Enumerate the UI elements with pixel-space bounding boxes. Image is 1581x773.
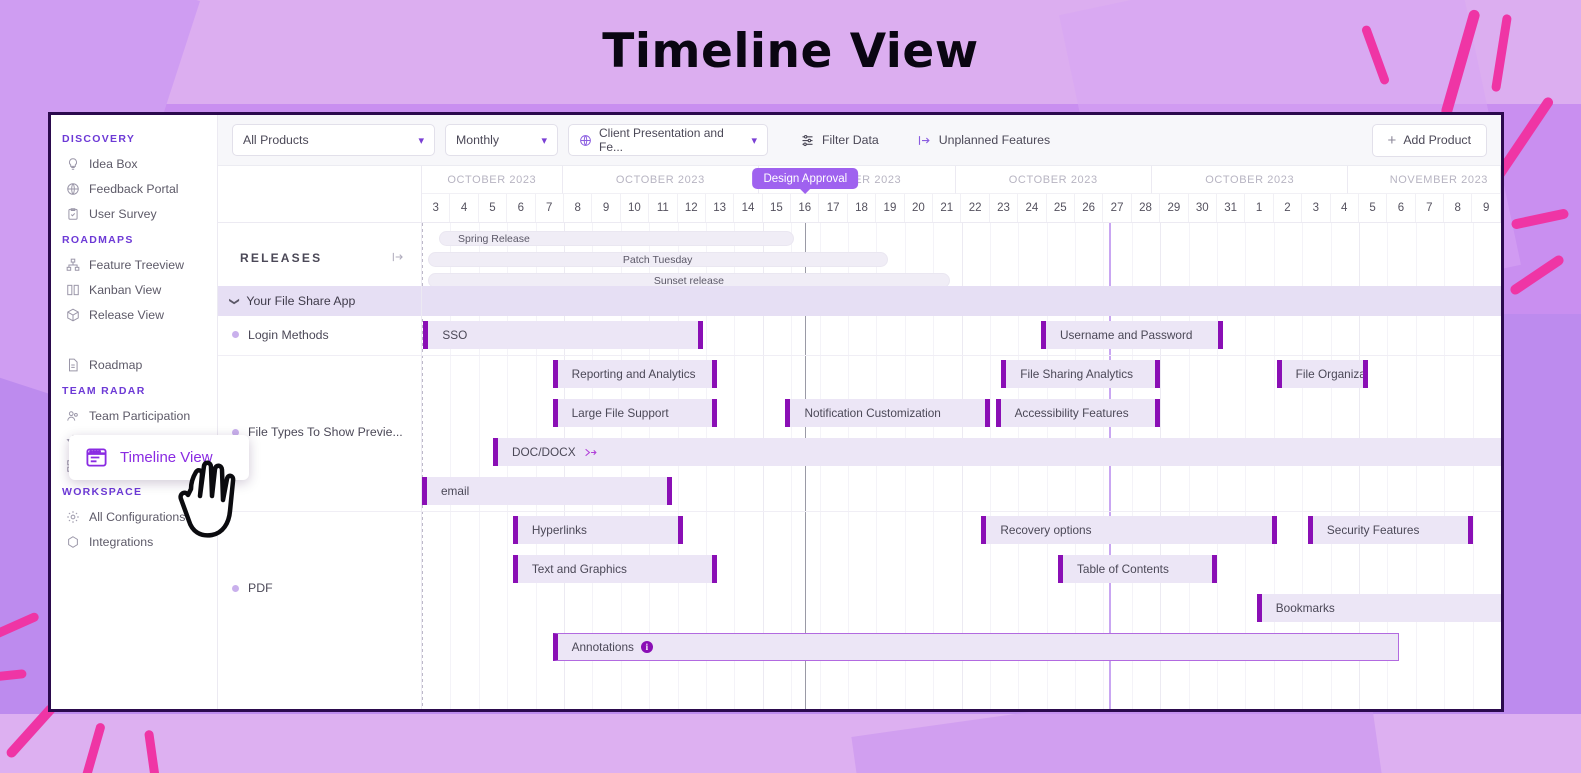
feature-bar[interactable]: email bbox=[422, 477, 672, 505]
sidebar-item-team-participation[interactable]: Team Participation bbox=[51, 403, 217, 428]
timeline-icon bbox=[85, 446, 108, 469]
feature-bar-label: Notification Customization bbox=[804, 406, 940, 420]
hand-cursor-icon bbox=[169, 455, 255, 552]
row-divider bbox=[422, 511, 1501, 512]
timeline-header: OCTOBER 2023OCTOBER 2023OCTOBER 2023OCTO… bbox=[218, 166, 1501, 223]
month-label: NOVEMBER 2023 bbox=[1348, 166, 1501, 194]
day-cell[interactable]: 16 bbox=[791, 194, 819, 222]
chevron-down-icon[interactable]: ❯ bbox=[229, 297, 240, 305]
sidebar-section-discovery: DISCOVERY bbox=[51, 125, 217, 151]
timeline-header-scale: OCTOBER 2023OCTOBER 2023OCTOBER 2023OCTO… bbox=[422, 166, 1501, 222]
releases-zone: Spring ReleasePatch TuesdaySunset releas… bbox=[422, 223, 1501, 286]
day-cell[interactable]: 14 bbox=[734, 194, 762, 222]
day-cell[interactable]: 10 bbox=[621, 194, 649, 222]
row-bullet-icon bbox=[232, 331, 239, 338]
row-label-text: File Types To Show Previe... bbox=[248, 425, 403, 439]
row-label[interactable]: File Types To Show Previe... bbox=[232, 425, 403, 439]
row-bullet-icon bbox=[232, 585, 239, 592]
view-preset-value: Client Presentation and Fe... bbox=[599, 126, 736, 154]
day-row: 3456789101112131415161718192021222324252… bbox=[422, 194, 1501, 222]
day-cell[interactable]: 23 bbox=[990, 194, 1018, 222]
feature-bar[interactable]: Recovery options bbox=[981, 516, 1276, 544]
main-content: All Products ▾ Monthly ▾ Client Presenta… bbox=[218, 115, 1501, 709]
month-label: OCTOBER 2023 bbox=[422, 166, 563, 194]
row-label-text: Login Methods bbox=[248, 328, 329, 342]
clipboard-check-icon bbox=[65, 206, 80, 221]
month-label: OCTOBER 2023 bbox=[956, 166, 1152, 194]
plus-icon: + bbox=[1388, 133, 1397, 148]
day-cell[interactable]: 6 bbox=[507, 194, 535, 222]
sidebar-item-label: User Survey bbox=[89, 207, 157, 221]
group-header-label: Your File Share App bbox=[246, 294, 355, 308]
feature-bar-label: Security Features bbox=[1327, 523, 1419, 537]
product-filter-value: All Products bbox=[243, 133, 309, 147]
release-bar-label: Spring Release bbox=[458, 233, 530, 245]
day-cell[interactable]: 13 bbox=[706, 194, 734, 222]
day-cell[interactable]: 4 bbox=[450, 194, 478, 222]
feature-bar[interactable]: Reporting and Analytics bbox=[553, 360, 718, 388]
timeline-header-spacer bbox=[218, 166, 422, 222]
day-cell[interactable]: 7 bbox=[536, 194, 564, 222]
feature-bar-label: Recovery options bbox=[1000, 523, 1091, 537]
feature-bar[interactable]: Bookmarks bbox=[1257, 594, 1501, 622]
unplanned-features-label: Unplanned Features bbox=[939, 133, 1050, 147]
day-cell[interactable]: 7 bbox=[1416, 194, 1444, 222]
row-label-text: PDF bbox=[248, 581, 273, 595]
timeline-grid[interactable]: Spring ReleasePatch TuesdaySunset releas… bbox=[422, 223, 1501, 709]
feature-bar[interactable]: SSO bbox=[423, 321, 703, 349]
frequency-dropdown[interactable]: Monthly ▾ bbox=[445, 124, 558, 156]
row-divider bbox=[422, 355, 1501, 356]
day-cell[interactable]: 1 bbox=[1245, 194, 1273, 222]
release-bar-label: Sunset release bbox=[654, 275, 724, 287]
sidebar-item-idea-box[interactable]: Idea Box bbox=[51, 151, 217, 176]
day-cell[interactable]: 6 bbox=[1387, 194, 1415, 222]
box-icon bbox=[65, 307, 80, 322]
day-cell[interactable]: 29 bbox=[1160, 194, 1188, 222]
day-cell[interactable]: 17 bbox=[819, 194, 847, 222]
feature-bar[interactable]: DOC/DOCX bbox=[493, 438, 1501, 466]
feature-bar[interactable]: Security Features bbox=[1308, 516, 1473, 544]
sidebar-item-label: Kanban View bbox=[89, 283, 161, 297]
globe-icon bbox=[65, 181, 80, 196]
sidebar-item-release-view[interactable]: Release View bbox=[51, 302, 217, 327]
add-product-label: Add Product bbox=[1403, 133, 1471, 147]
feature-bar-label: Text and Graphics bbox=[532, 562, 627, 576]
day-cell[interactable]: 9 bbox=[1472, 194, 1500, 222]
day-cell[interactable]: 25 bbox=[1047, 194, 1075, 222]
feature-bar[interactable]: File Organizatio... bbox=[1277, 360, 1368, 388]
day-cell[interactable]: 31 bbox=[1217, 194, 1245, 222]
releases-section-label: RELEASES bbox=[240, 251, 322, 265]
row-label[interactable]: Login Methods bbox=[232, 328, 329, 342]
day-cell[interactable]: 5 bbox=[1359, 194, 1387, 222]
sidebar-item-kanban-view[interactable]: Kanban View bbox=[51, 277, 217, 302]
day-cell[interactable]: 3 bbox=[1302, 194, 1330, 222]
feature-bar[interactable]: Username and Password bbox=[1041, 321, 1223, 349]
day-cell[interactable]: 21 bbox=[933, 194, 961, 222]
arrow-continue-icon[interactable] bbox=[584, 446, 597, 459]
frequency-value: Monthly bbox=[456, 133, 499, 147]
feature-bar-label: DOC/DOCX bbox=[512, 445, 576, 459]
day-cell[interactable]: 15 bbox=[763, 194, 791, 222]
chevron-down-icon: ▾ bbox=[533, 134, 547, 147]
day-cell[interactable]: 4 bbox=[1331, 194, 1359, 222]
day-cell[interactable]: 2 bbox=[1274, 194, 1302, 222]
feature-bar-label: Hyperlinks bbox=[532, 523, 587, 537]
group-header-row[interactable]: ❯Your File Share App bbox=[218, 286, 421, 316]
page-title: Timeline View bbox=[0, 24, 1581, 79]
feature-bar-label: Annotations bbox=[572, 640, 634, 654]
hexagon-icon bbox=[65, 534, 80, 549]
arrow-to-line-icon[interactable] bbox=[391, 250, 405, 269]
sidebar-item-label: Idea Box bbox=[89, 157, 138, 171]
feature-bar-label: Bookmarks bbox=[1276, 601, 1335, 615]
day-cell[interactable]: 26 bbox=[1075, 194, 1103, 222]
sidebar-section-team-radar: TEAM RADAR bbox=[51, 377, 217, 403]
feature-bar[interactable]: Notification Customization bbox=[785, 399, 989, 427]
users-icon bbox=[65, 408, 80, 423]
sidebar-item-label: Integrations bbox=[89, 535, 153, 549]
lightbulb-icon bbox=[65, 156, 80, 171]
day-cell[interactable]: 28 bbox=[1132, 194, 1160, 222]
day-cell[interactable]: 11 bbox=[649, 194, 677, 222]
sidebar-item-label: Release View bbox=[89, 308, 164, 322]
unplanned-features-button[interactable]: Unplanned Features bbox=[909, 124, 1058, 156]
release-bar-label: Patch Tuesday bbox=[623, 254, 692, 266]
day-cell[interactable]: 9 bbox=[592, 194, 620, 222]
day-cell[interactable]: 24 bbox=[1018, 194, 1046, 222]
sidebar-item-label: Team Participation bbox=[89, 409, 190, 423]
sliders-icon bbox=[800, 133, 815, 148]
day-cell[interactable]: 20 bbox=[905, 194, 933, 222]
sidebar-item-roadmap[interactable]: Roadmap bbox=[51, 352, 217, 377]
day-cell[interactable]: 12 bbox=[678, 194, 706, 222]
feature-bar[interactable]: Annotationsi bbox=[553, 633, 1399, 661]
toolbar: All Products ▾ Monthly ▾ Client Presenta… bbox=[218, 115, 1501, 166]
sidebar-section-roadmaps: ROADMAPS bbox=[51, 226, 217, 252]
month-label: OCTOBER 2023 bbox=[1152, 166, 1348, 194]
globe-icon bbox=[579, 134, 592, 147]
info-icon[interactable]: i bbox=[641, 641, 653, 653]
product-filter-dropdown[interactable]: All Products ▾ bbox=[232, 124, 435, 156]
tree-icon bbox=[65, 257, 80, 272]
sidebar-item-label: Feature Treeview bbox=[89, 258, 184, 272]
day-cell[interactable]: 19 bbox=[876, 194, 904, 222]
feature-bar-label: Table of Contents bbox=[1077, 562, 1169, 576]
day-cell[interactable]: 5 bbox=[479, 194, 507, 222]
row-divider bbox=[218, 355, 421, 356]
feature-bar-label: SSO bbox=[442, 328, 467, 342]
feature-bar-label: Username and Password bbox=[1060, 328, 1192, 342]
release-bar[interactable]: Spring Release bbox=[439, 231, 794, 246]
feature-bar-label: Reporting and Analytics bbox=[572, 367, 696, 381]
sidebar-item-feedback-portal[interactable]: Feedback Portal bbox=[51, 176, 217, 201]
gear-icon bbox=[65, 509, 80, 524]
feature-bar[interactable]: Hyperlinks bbox=[513, 516, 683, 544]
feature-bar-label: Large File Support bbox=[572, 406, 669, 420]
filter-data-button[interactable]: Filter Data bbox=[792, 124, 887, 156]
arrow-to-line-icon bbox=[917, 133, 932, 148]
chevron-down-icon: ▾ bbox=[743, 134, 757, 147]
view-preset-dropdown[interactable]: Client Presentation and Fe... ▾ bbox=[568, 124, 768, 156]
day-cell[interactable]: 18 bbox=[848, 194, 876, 222]
document-icon bbox=[65, 357, 80, 372]
feature-bar-label: File Sharing Analytics bbox=[1020, 367, 1133, 381]
filter-data-label: Filter Data bbox=[822, 133, 879, 147]
timeline-body: RELEASES ❯Your File Share AppLogin Metho… bbox=[218, 223, 1501, 709]
group-header-row[interactable] bbox=[422, 286, 1501, 316]
day-cell[interactable]: 8 bbox=[564, 194, 592, 222]
row-label[interactable]: PDF bbox=[232, 581, 273, 595]
release-bar[interactable]: Patch Tuesday bbox=[428, 252, 888, 267]
feature-bar[interactable]: File Sharing Analytics bbox=[1001, 360, 1160, 388]
columns-icon bbox=[65, 282, 80, 297]
app-window: DISCOVERY Idea Box Feedback Portal User … bbox=[48, 112, 1504, 712]
sidebar-item-user-survey[interactable]: User Survey bbox=[51, 201, 217, 226]
sidebar-item-label: Roadmap bbox=[89, 358, 142, 372]
month-label: OCTOBER 2023 bbox=[563, 166, 759, 194]
day-cell[interactable]: 30 bbox=[1189, 194, 1217, 222]
sidebar: DISCOVERY Idea Box Feedback Portal User … bbox=[51, 115, 218, 709]
day-cell[interactable]: 3 bbox=[422, 194, 450, 222]
month-row: OCTOBER 2023OCTOBER 2023OCTOBER 2023OCTO… bbox=[422, 166, 1501, 194]
chevron-down-icon: ▾ bbox=[410, 134, 424, 147]
feature-bar[interactable]: Large File Support bbox=[553, 399, 718, 427]
feature-bar-label: File Organizatio... bbox=[1296, 367, 1368, 381]
sidebar-item-label: Feedback Portal bbox=[89, 182, 179, 196]
feature-bar[interactable]: Accessibility Features bbox=[996, 399, 1161, 427]
day-cell[interactable]: 27 bbox=[1103, 194, 1131, 222]
day-cell[interactable]: 22 bbox=[961, 194, 989, 222]
milestone-marker[interactable]: Design Approval bbox=[752, 168, 858, 189]
feature-bar-label: Accessibility Features bbox=[1015, 406, 1129, 420]
day-cell[interactable]: 8 bbox=[1444, 194, 1472, 222]
add-product-button[interactable]: + Add Product bbox=[1372, 124, 1487, 157]
feature-bar-label: email bbox=[441, 484, 469, 498]
feature-bar[interactable]: Text and Graphics bbox=[513, 555, 717, 583]
feature-bar[interactable]: Table of Contents bbox=[1058, 555, 1217, 583]
sidebar-item-feature-treeview[interactable]: Feature Treeview bbox=[51, 252, 217, 277]
